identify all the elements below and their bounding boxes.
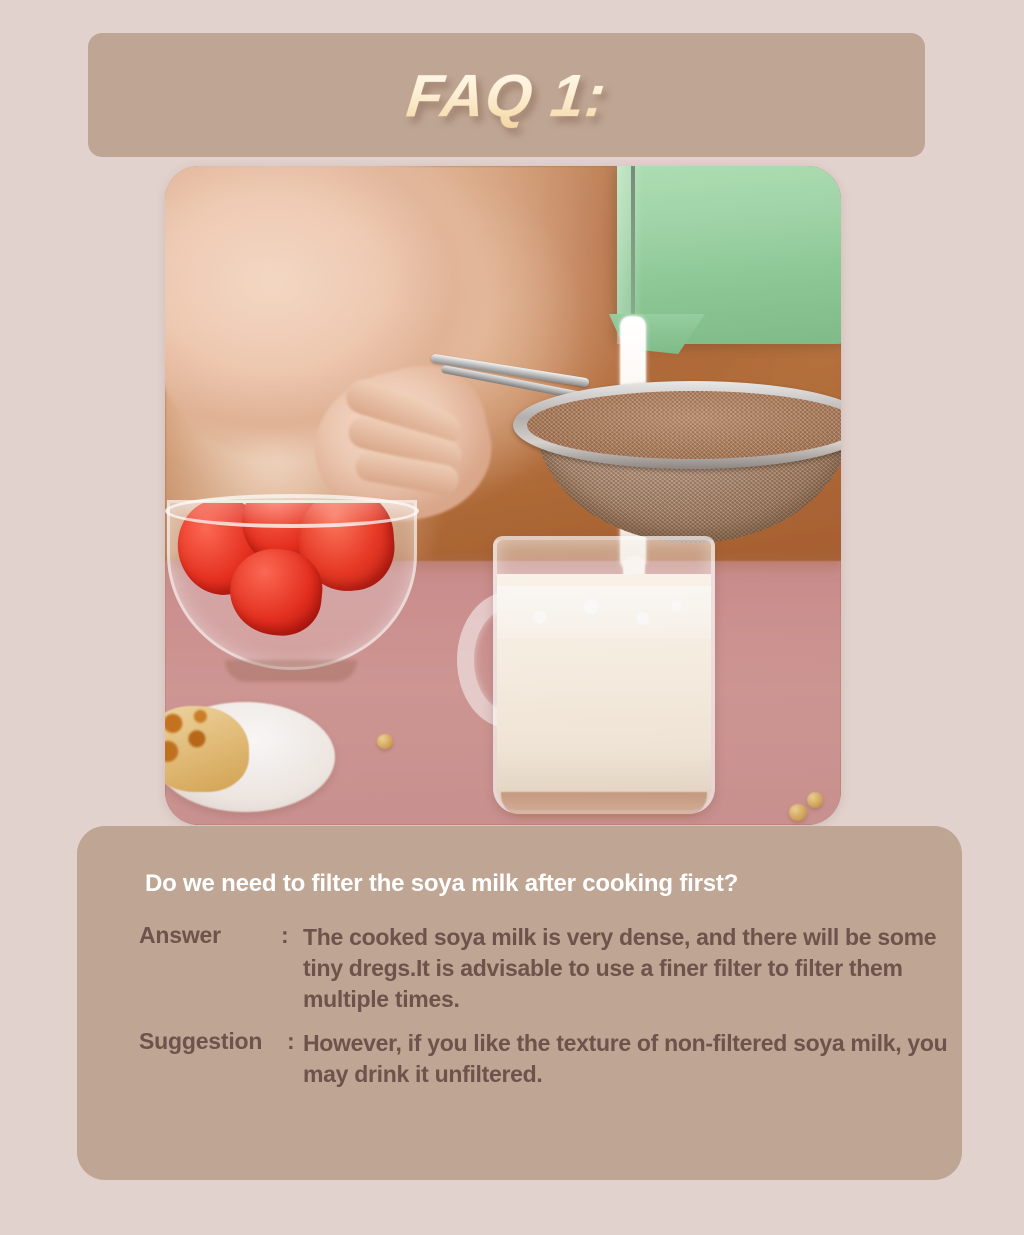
milk-foam (497, 586, 711, 638)
faq-row-answer: Answer : The cooked soya milk is very de… (139, 922, 949, 1014)
answer-label: Answer (139, 922, 281, 1014)
soybean-icon (789, 804, 807, 821)
mug-body (493, 536, 715, 814)
bowl-rim (165, 494, 419, 528)
title-bar: FAQ 1: (88, 33, 925, 157)
soybean-icon (807, 792, 823, 808)
answer-colon: : (281, 922, 303, 1014)
faq-text-panel: Do we need to filter the soya milk after… (77, 826, 962, 1180)
answer-body: The cooked soya milk is very dense, and … (303, 922, 949, 1014)
mesh-strainer-icon (513, 381, 841, 546)
suggestion-body: However, if you like the texture of non-… (303, 1028, 949, 1090)
mug-base (501, 792, 707, 818)
faq-page: FAQ 1: (0, 0, 1024, 1235)
faq-row-suggestion: Suggestion : However, if you like the te… (139, 1028, 949, 1090)
strainer-inner-mesh (527, 391, 841, 459)
faq-question: Do we need to filter the soya milk after… (145, 870, 738, 898)
bowl-foot (225, 660, 357, 682)
glass-mug-icon (465, 536, 715, 816)
green-pitcher-icon (617, 166, 841, 344)
faq-answer-block: Answer : The cooked soya milk is very de… (139, 922, 949, 1104)
strawberry-bowl-icon (167, 476, 417, 676)
suggestion-colon: : (287, 1028, 303, 1090)
syrup-icon (165, 708, 233, 778)
soya-milk-fill (497, 574, 711, 810)
suggestion-label: Suggestion (139, 1028, 287, 1090)
page-title: FAQ 1: (403, 61, 610, 130)
soybean-icon (377, 734, 393, 749)
faq-photo (165, 166, 841, 825)
